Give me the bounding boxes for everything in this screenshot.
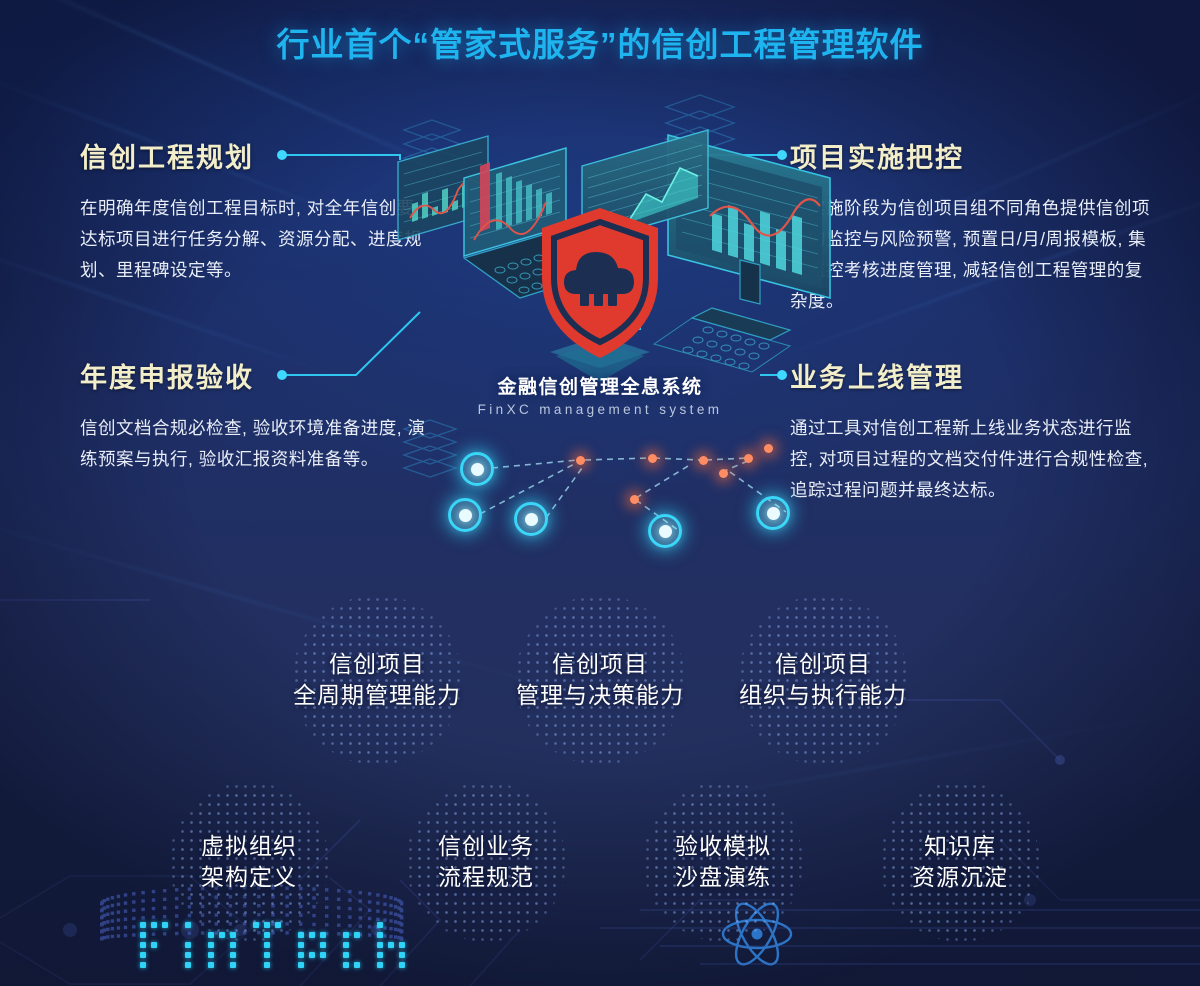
- section-implementation-control-body: 在实施阶段为信创项目组不同角色提供信创项目的监控与风险预警, 预置日/月/周报模…: [790, 193, 1150, 317]
- section-annual-acceptance-body: 信创文档合规必检查, 验收环境准备进度, 演练预案与执行, 验收汇报资料准备等。: [80, 413, 430, 475]
- node-network-links: [430, 420, 830, 560]
- feature-sphere[interactable]: 验收模拟 沙盘演练: [643, 782, 803, 942]
- capability-sphere[interactable]: 信创项目 组织与执行能力: [738, 595, 908, 765]
- isometric-illustration: [360, 90, 840, 420]
- capability-sphere[interactable]: 信创项目 全周期管理能力: [292, 595, 462, 765]
- section-implementation-control: 项目实施把控 在实施阶段为信创项目组不同角色提供信创项目的监控与风险预警, 预置…: [790, 136, 1150, 317]
- node-network: [430, 420, 830, 560]
- capability-sphere-line1: 信创项目: [739, 649, 907, 680]
- capability-sphere-label: 信创项目 组织与执行能力: [739, 649, 907, 711]
- glow-node-cyan: [648, 514, 682, 548]
- feature-sphere-label: 验收模拟 沙盘演练: [675, 831, 771, 893]
- glow-node-cyan: [514, 502, 548, 536]
- feature-sphere-line2: 流程规范: [438, 862, 534, 893]
- feature-sphere-label: 知识库 资源沉淀: [912, 831, 1008, 893]
- system-name-en: FinXC management system: [0, 402, 1200, 417]
- link-node-orange: [744, 454, 753, 463]
- page-title: 行业首个“管家式服务”的信创工程管理软件: [0, 18, 1200, 66]
- glow-node-cyan: [448, 498, 482, 532]
- capability-sphere-line1: 信创项目: [516, 649, 684, 680]
- feature-sphere-label: 信创业务 流程规范: [438, 831, 534, 893]
- capability-sphere-line2: 管理与决策能力: [516, 680, 684, 711]
- section-business-launch-body: 通过工具对信创工程新上线业务状态进行监控, 对项目过程的文档交付件进行合规性检查…: [790, 413, 1150, 506]
- link-node-orange: [764, 444, 773, 453]
- feature-sphere-line1: 信创业务: [438, 831, 534, 862]
- feature-sphere[interactable]: 知识库 资源沉淀: [880, 782, 1040, 942]
- glow-node-cyan: [460, 452, 494, 486]
- feature-sphere-line1: 知识库: [912, 831, 1008, 862]
- feature-sphere[interactable]: 信创业务 流程规范: [406, 782, 566, 942]
- capability-sphere-label: 信创项目 管理与决策能力: [516, 649, 684, 711]
- capability-sphere-line2: 组织与执行能力: [739, 680, 907, 711]
- feature-sphere-label: 虚拟组织 架构定义: [201, 831, 297, 893]
- capability-sphere-line1: 信创项目: [293, 649, 461, 680]
- link-node-orange: [699, 456, 708, 465]
- capability-sphere-line2: 全周期管理能力: [293, 680, 461, 711]
- capability-sphere-label: 信创项目 全周期管理能力: [293, 649, 461, 711]
- feature-sphere-line1: 验收模拟: [675, 831, 771, 862]
- feature-sphere-line2: 沙盘演练: [675, 862, 771, 893]
- capability-sphere[interactable]: 信创项目 管理与决策能力: [515, 595, 685, 765]
- system-name-cn: 金融信创管理全息系统: [0, 372, 1200, 399]
- feature-sphere[interactable]: 虚拟组织 架构定义: [169, 782, 329, 942]
- feature-sphere-line2: 资源沉淀: [912, 862, 1008, 893]
- feature-sphere-line2: 架构定义: [201, 862, 297, 893]
- link-node-orange: [648, 454, 657, 463]
- link-node-orange: [576, 456, 585, 465]
- system-name-caption: 金融信创管理全息系统 FinXC management system: [0, 372, 1200, 417]
- feature-sphere-line1: 虚拟组织: [201, 831, 297, 862]
- glow-node-cyan: [756, 496, 790, 530]
- link-node-orange: [719, 469, 728, 478]
- section-implementation-control-heading: 项目实施把控: [790, 136, 1150, 175]
- link-node-orange: [630, 495, 639, 504]
